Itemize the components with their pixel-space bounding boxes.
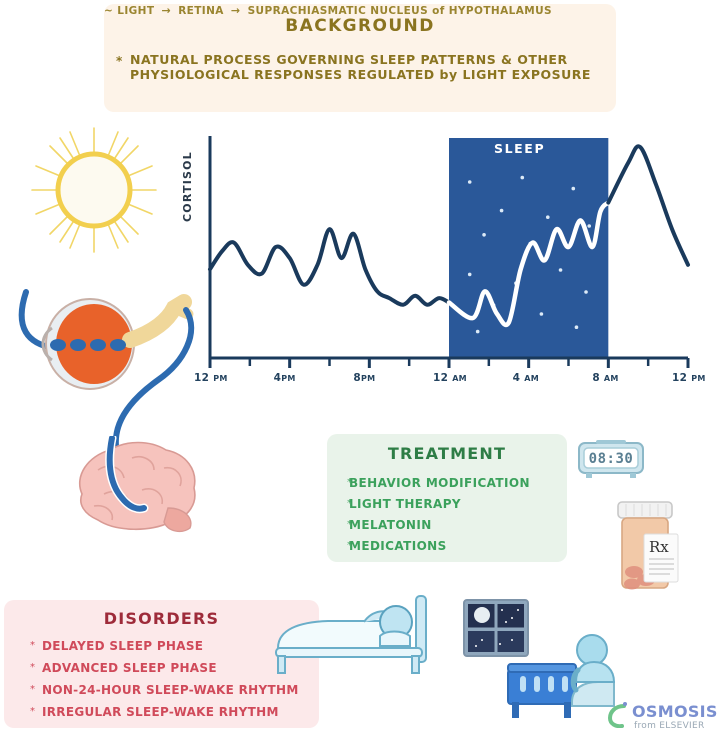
x-tick-label-6: 12 PM	[672, 372, 706, 384]
chart-svg	[188, 130, 698, 395]
cortisol-curve-awake	[210, 229, 449, 305]
osmosis-logo: OSMOSIS from ELSEVIER	[608, 700, 716, 742]
logo-name: OSMOSIS	[632, 702, 718, 721]
x-tick-label-3: 12 AM	[433, 372, 467, 384]
disorder-item: ADVANCED SLEEP PHASE	[42, 661, 217, 675]
treatment-section: TREATMENT *BEHAVIOR MODIFICATION*LIGHT T…	[327, 434, 567, 562]
treatment-item: MELATONIN	[349, 518, 432, 532]
digital-alarm-clock: 08:30	[578, 440, 644, 478]
osmosis-mark-icon	[608, 702, 632, 728]
disorder-bullet-1: *	[30, 662, 35, 673]
disorder-item: IRREGULAR SLEEP-WAKE RHYTHM	[42, 705, 279, 719]
x-tick-label-2: 8PM	[353, 372, 375, 384]
disorder-bullet-3: *	[30, 706, 35, 717]
sleep-region-label: SLEEP	[494, 141, 545, 156]
logo-subtitle: from ELSEVIER	[634, 721, 705, 731]
disorder-item: NON-24-HOUR SLEEP-WAKE RHYTHM	[42, 683, 299, 697]
disorder-item: DELAYED SLEEP PHASE	[42, 639, 203, 653]
x-tick-label-5: 8 AM	[592, 372, 618, 384]
disorder-bullet-0: *	[30, 640, 35, 651]
treatment-item: MEDICATIONS	[349, 539, 447, 553]
clock-time-display: 08:30	[578, 440, 644, 478]
person-sleeping-in-bed-icon	[268, 592, 446, 682]
rx-label: Rx	[649, 538, 669, 556]
disorder-bullet-2: *	[30, 684, 35, 695]
person-sitting-awake-on-bed-icon	[506, 632, 616, 724]
background-body-text: NATURAL PROCESS GOVERNING SLEEP PATTERNS…	[130, 52, 600, 82]
background-title: BACKGROUND	[104, 16, 616, 36]
brain-anatomy-icon	[64, 436, 204, 541]
x-tick-label-4: 4 AM	[513, 372, 539, 384]
cortisol-curve-morning	[608, 146, 688, 264]
pill-bottle-icon: Rx	[604, 498, 686, 590]
y-axis-label: CORTISOL	[181, 151, 194, 222]
treatment-item: LIGHT THERAPY	[349, 497, 461, 511]
treatment-item: BEHAVIOR MODIFICATION	[349, 476, 530, 490]
background-section: BACKGROUND * NATURAL PROCESS GOVERNING S…	[104, 4, 616, 112]
background-bullet-marker: *	[116, 54, 123, 68]
cortisol-rhythm-chart	[188, 130, 698, 395]
x-tick-label-1: 4PM	[274, 372, 296, 384]
treatment-title: TREATMENT	[327, 444, 567, 463]
x-tick-label-0: 12 PM	[194, 372, 228, 384]
